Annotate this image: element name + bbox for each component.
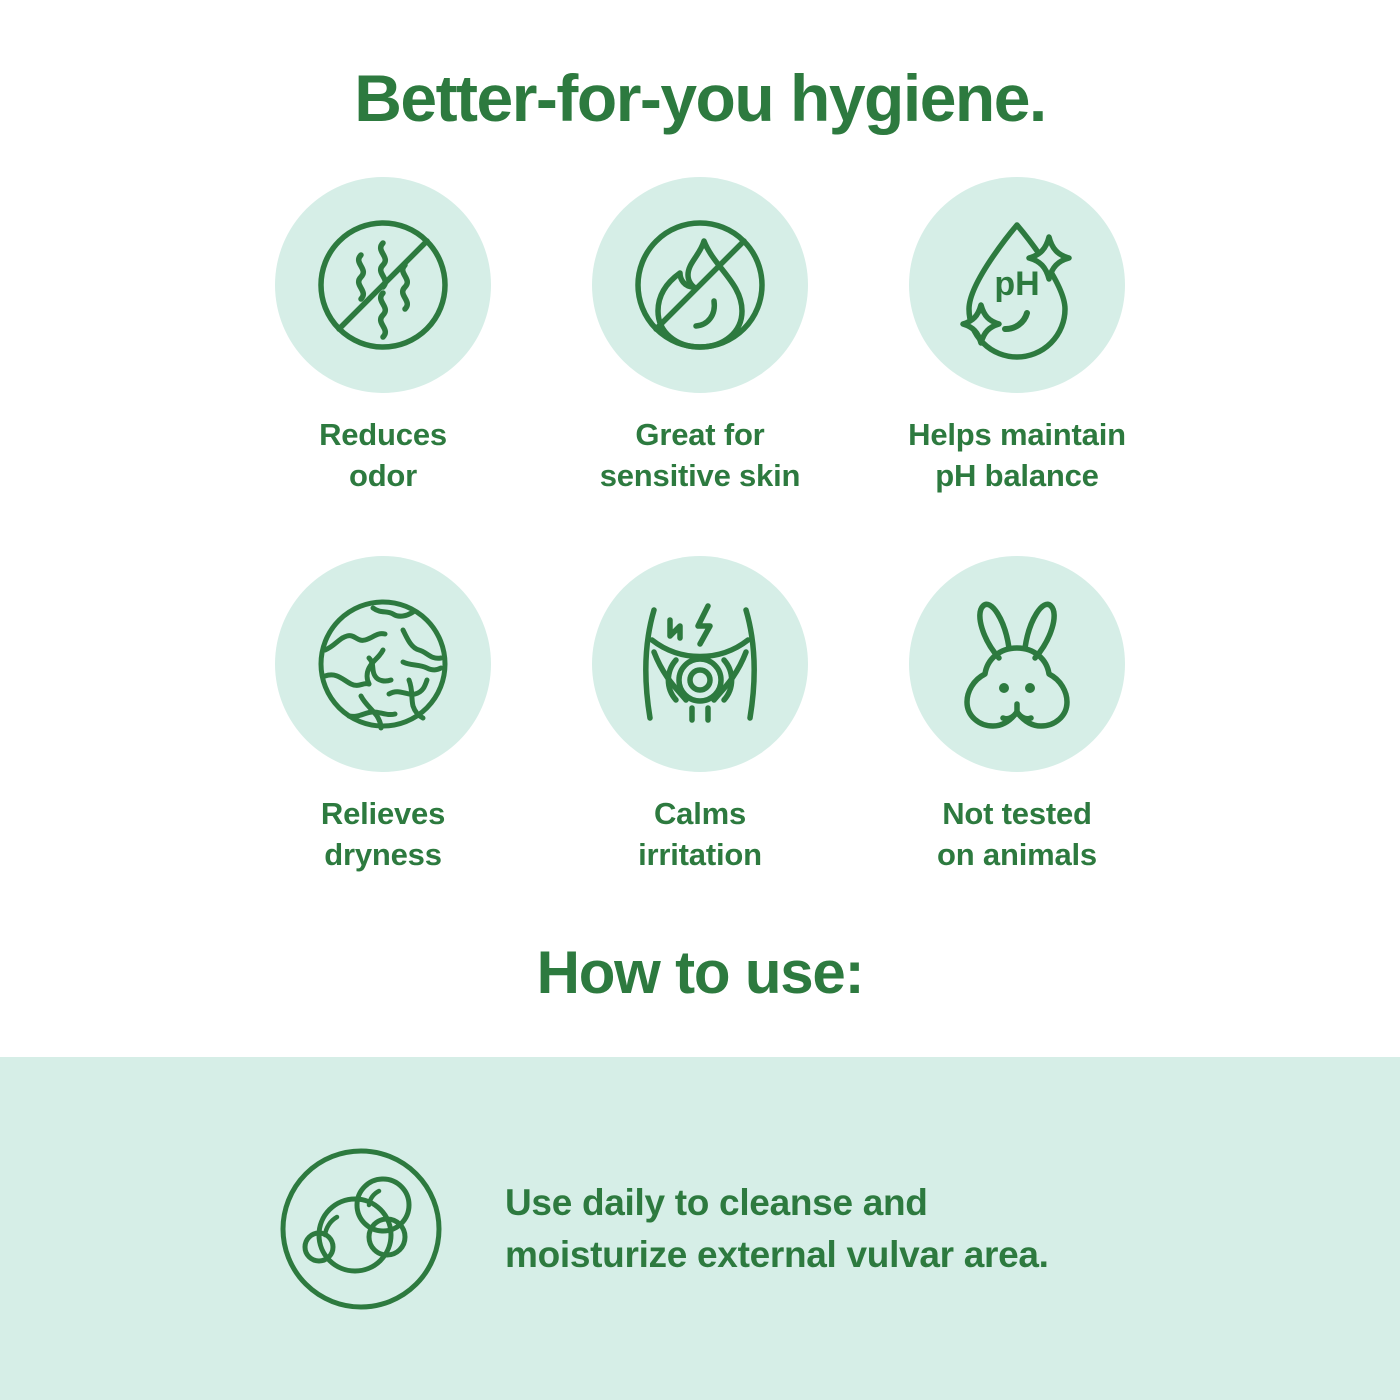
benefit-label: Helps maintain pH balance: [908, 415, 1126, 497]
no-odor-icon: [275, 177, 491, 393]
benefit-label: Great for sensitive skin: [600, 415, 801, 497]
benefit-calms-irritation: Calms irritation: [542, 556, 859, 876]
benefit-ph-balance: pH Helps maintain pH balance: [859, 177, 1176, 497]
bubbles-icon: [275, 1143, 447, 1315]
benefit-sensitive-skin: Great for sensitive skin: [542, 177, 859, 497]
rabbit-icon: [909, 556, 1125, 772]
benefit-reduces-odor: Reduces odor: [225, 177, 542, 497]
benefit-label: Not tested on animals: [937, 794, 1097, 876]
benefit-cruelty-free: Not tested on animals: [859, 556, 1176, 876]
benefit-label: Calms irritation: [638, 794, 762, 876]
ph-text: pH: [994, 265, 1039, 303]
ph-droplet-icon: pH: [909, 177, 1125, 393]
benefit-label: Reduces odor: [319, 415, 447, 497]
how-to-use-title: How to use:: [0, 938, 1400, 1007]
benefits-grid: Reduces odor Great for sensitive skin: [0, 177, 1400, 877]
dry-skin-icon: [275, 556, 491, 772]
usage-instructions-band: Use daily to cleanse and moisturize exte…: [0, 1057, 1400, 1400]
benefit-relieves-dryness: Relieves dryness: [225, 556, 542, 876]
usage-instructions-inner: Use daily to cleanse and moisturize exte…: [0, 1143, 1049, 1315]
usage-instructions-text: Use daily to cleanse and moisturize exte…: [505, 1177, 1049, 1279]
benefit-label: Relieves dryness: [321, 794, 445, 876]
product-benefits-page: Better-for-you hygiene. Reduces odor: [0, 0, 1400, 1400]
page-title: Better-for-you hygiene.: [0, 62, 1400, 135]
no-flame-icon: [592, 177, 808, 393]
pelvic-irritation-icon: [592, 556, 808, 772]
